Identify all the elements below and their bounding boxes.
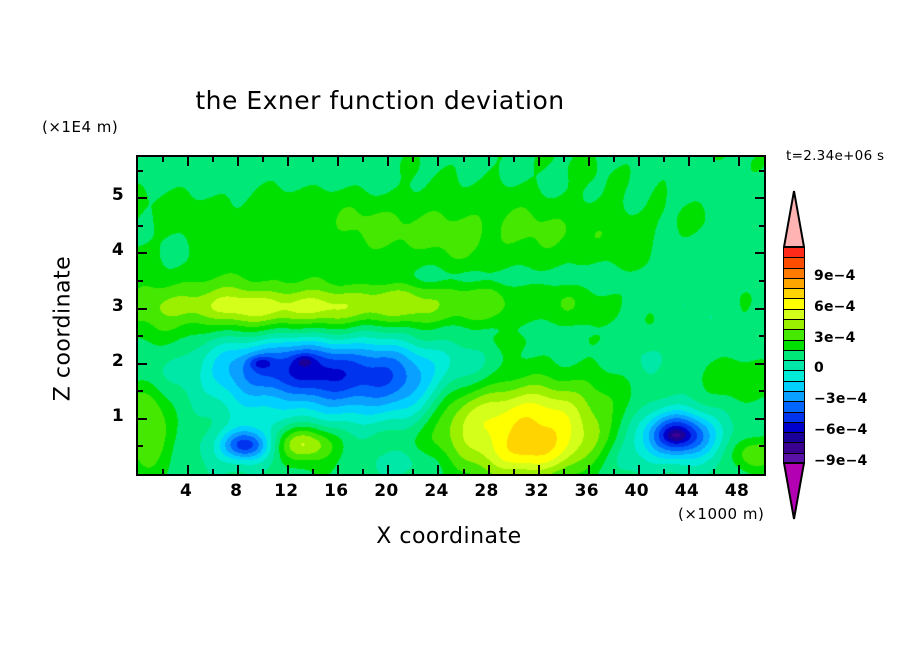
x-tick (387, 465, 389, 474)
x-tick-top (713, 157, 715, 162)
y-tick-right (755, 197, 764, 199)
x-tick-top (287, 157, 289, 166)
y-tick-right (759, 390, 764, 392)
x-tick-top (738, 157, 740, 166)
colorbar-tick-label: 9e−4 (814, 268, 856, 284)
y-tick-label: 2 (94, 351, 124, 371)
x-tick (688, 465, 690, 474)
colorbar (783, 247, 805, 463)
y-tick-right (759, 335, 764, 337)
y-tick (138, 445, 143, 447)
colorbar-tick-label: −6e−4 (814, 422, 867, 438)
colorbar-tick-label: −9e−4 (814, 453, 867, 469)
y-tick-right (755, 363, 764, 365)
x-tick (162, 469, 164, 474)
y-tick-right (759, 280, 764, 282)
x-tick (237, 465, 239, 474)
contour-plot-area (136, 155, 766, 476)
x-tick-top (437, 157, 439, 166)
x-tick-top (588, 157, 590, 166)
x-tick (513, 469, 515, 474)
x-tick-label: 20 (366, 481, 406, 501)
y-tick-right (759, 225, 764, 227)
x-tick (212, 469, 214, 474)
x-tick (563, 469, 565, 474)
y-tick-label: 4 (94, 240, 124, 260)
y-tick (138, 335, 143, 337)
y-tick (138, 170, 143, 172)
x-tick-top (638, 157, 640, 166)
colorbar-tick-label: −3e−4 (814, 391, 867, 407)
y-tick (138, 308, 147, 310)
x-tick-label: 4 (166, 481, 206, 501)
x-tick (538, 465, 540, 474)
x-tick-top (237, 157, 239, 166)
x-tick-top (162, 157, 164, 162)
x-tick (312, 469, 314, 474)
x-tick-top (337, 157, 339, 166)
colorbar-top-extension-cap (783, 190, 805, 248)
y-tick-right (759, 170, 764, 172)
x-tick-top (688, 157, 690, 166)
x-tick (713, 469, 715, 474)
x-tick-label: 24 (416, 481, 456, 501)
y-tick-right (759, 445, 764, 447)
x-tick-top (187, 157, 189, 166)
y-axis-title: Z coordinate (51, 229, 76, 429)
x-tick (588, 465, 590, 474)
x-tick-top (488, 157, 490, 166)
x-tick-top (387, 157, 389, 166)
x-tick (663, 469, 665, 474)
y-tick (138, 225, 143, 227)
y-tick (138, 390, 143, 392)
y-tick-right (755, 252, 764, 254)
x-tick-top (362, 157, 364, 162)
x-tick-top (262, 157, 264, 162)
x-axis-title: X coordinate (136, 524, 762, 549)
x-tick (738, 465, 740, 474)
x-tick (613, 469, 615, 474)
x-tick-label: 32 (517, 481, 557, 501)
x-tick-top (212, 157, 214, 162)
x-tick-top (463, 157, 465, 162)
x-tick (337, 465, 339, 474)
x-tick-label: 16 (316, 481, 356, 501)
page-title: the Exner function deviation (0, 86, 760, 115)
colorbar-tick-label: 0 (814, 360, 824, 376)
y-tick-label: 5 (94, 185, 124, 205)
y-tick (138, 418, 147, 420)
x-tick-label: 12 (266, 481, 306, 501)
y-tick (138, 363, 147, 365)
x-tick-label: 48 (717, 481, 757, 501)
y-tick (138, 252, 147, 254)
x-tick-top (663, 157, 665, 162)
time-stamp-label: t=2.34e+06 s (786, 148, 884, 164)
x-tick-label: 36 (567, 481, 607, 501)
x-tick-top (613, 157, 615, 162)
x-tick-label: 8 (216, 481, 256, 501)
y-tick-right (755, 418, 764, 420)
x-tick (437, 465, 439, 474)
x-tick-label: 28 (467, 481, 507, 501)
x-tick (262, 469, 264, 474)
colorbar-tick-label: 3e−4 (814, 330, 856, 346)
x-tick-top (563, 157, 565, 162)
y-tick-right (755, 308, 764, 310)
colorbar-tick-label: 6e−4 (814, 299, 856, 315)
x-tick-top (538, 157, 540, 166)
contour-field-canvas (138, 157, 764, 474)
x-tick-top (312, 157, 314, 162)
x-tick-top (412, 157, 414, 162)
y-tick-label: 1 (94, 406, 124, 426)
x-tick (287, 465, 289, 474)
y-tick-label: 3 (94, 296, 124, 316)
x-tick (412, 469, 414, 474)
y-tick (138, 280, 143, 282)
colorbar-bottom-extension-cap (783, 462, 805, 520)
x-tick-label: 40 (617, 481, 657, 501)
x-tick (187, 465, 189, 474)
x-axis-unit-label: (×1000 m) (678, 505, 764, 523)
x-tick-label: 44 (667, 481, 707, 501)
x-tick (638, 465, 640, 474)
x-tick (463, 469, 465, 474)
y-tick (138, 197, 147, 199)
x-tick (488, 465, 490, 474)
z-axis-unit-label: (×1E4 m) (42, 118, 118, 136)
x-tick-top (513, 157, 515, 162)
x-tick (362, 469, 364, 474)
